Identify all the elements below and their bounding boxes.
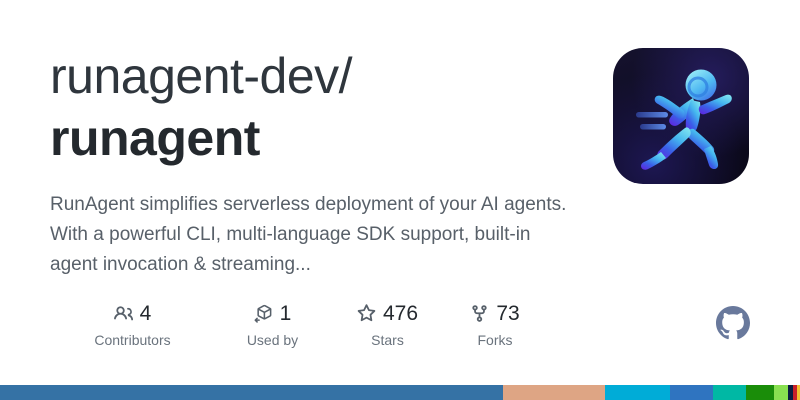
repository-stats: 4 Contributors 1 Used by bbox=[50, 300, 545, 347]
stat-stars-label: Stars bbox=[371, 333, 404, 347]
stat-used-by-value: 1 bbox=[280, 303, 292, 324]
speed-lines bbox=[636, 112, 668, 130]
repository-name: runagent bbox=[50, 108, 610, 168]
avatar bbox=[613, 48, 749, 184]
stat-forks-top: 73 bbox=[470, 300, 519, 326]
stat-stars-top: 476 bbox=[357, 300, 418, 326]
stat-used-by-top: 1 bbox=[254, 300, 292, 326]
language-bar bbox=[0, 385, 800, 400]
stat-forks-label: Forks bbox=[478, 333, 513, 347]
stat-used-by-label: Used by bbox=[247, 333, 298, 347]
language-segment-dart bbox=[746, 385, 774, 400]
stat-contributors-value: 4 bbox=[140, 303, 152, 324]
stat-contributors-top: 4 bbox=[114, 300, 152, 326]
stat-forks-value: 73 bbox=[496, 303, 519, 324]
language-segment-typescript bbox=[605, 385, 670, 400]
stat-contributors[interactable]: 4 Contributors bbox=[50, 300, 215, 347]
stat-used-by[interactable]: 1 Used by bbox=[215, 300, 330, 347]
repository-info: runagent-dev/ runagent RunAgent simplifi… bbox=[50, 46, 610, 280]
package-icon bbox=[254, 304, 273, 323]
repository-owner: runagent-dev/ bbox=[50, 46, 610, 106]
stat-stars-value: 476 bbox=[383, 303, 418, 324]
repository-description: RunAgent simplifies serverless deploymen… bbox=[50, 190, 570, 280]
stat-stars[interactable]: 476 Stars bbox=[330, 300, 445, 347]
repository-social-card: runagent-dev/ runagent RunAgent simplifi… bbox=[0, 0, 800, 400]
fork-icon bbox=[470, 304, 489, 323]
language-segment-javascript bbox=[713, 385, 747, 400]
language-segment-shell bbox=[774, 385, 788, 400]
language-segment-python bbox=[0, 385, 503, 400]
page-title: runagent-dev/ runagent bbox=[50, 46, 610, 168]
language-segment-rust bbox=[503, 385, 605, 400]
star-icon bbox=[357, 304, 376, 323]
people-icon bbox=[114, 304, 133, 323]
language-segment-go bbox=[670, 385, 713, 400]
stat-forks[interactable]: 73 Forks bbox=[445, 300, 545, 347]
github-mark-icon bbox=[716, 306, 750, 340]
language-segment-other bbox=[797, 385, 800, 400]
stat-contributors-label: Contributors bbox=[94, 333, 170, 347]
